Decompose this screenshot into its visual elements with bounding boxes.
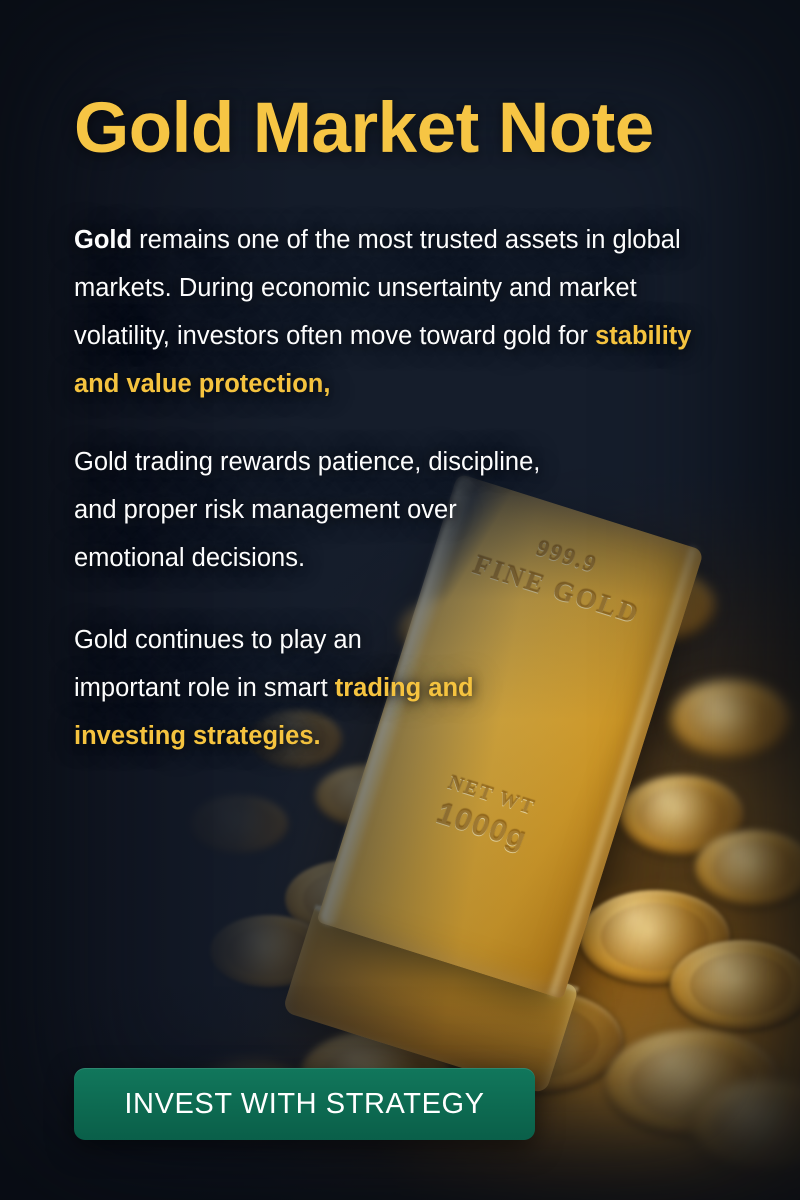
paragraph-3-text-after: . (314, 722, 321, 750)
paragraph-1-lead-bold: Gold (74, 226, 132, 254)
paragraph-1-text-after: , (323, 370, 330, 398)
paragraph-3: Gold continues to play an important role… (74, 616, 474, 760)
page-title: Gold Market Note (74, 92, 654, 167)
paragraph-2-text: Gold trading rewards patience, disciplin… (74, 448, 540, 572)
invest-with-strategy-button[interactable]: INVEST WITH STRATEGY (74, 1068, 535, 1140)
body-copy: Gold remains one of the most trusted ass… (74, 216, 740, 790)
gold-market-note-poster: 999.9 FINE GOLD NET WT 1000g Gold Market… (0, 0, 800, 1200)
paragraph-2: Gold trading rewards patience, disciplin… (74, 438, 544, 582)
paragraph-1-text-before: remains one of the most trusted assets i… (74, 226, 681, 350)
paragraph-1: Gold remains one of the most trusted ass… (74, 216, 734, 408)
poster-content: Gold Market Note Gold remains one of the… (0, 0, 800, 1200)
paragraph-3-text-before: Gold continues to play an important role… (74, 626, 362, 702)
